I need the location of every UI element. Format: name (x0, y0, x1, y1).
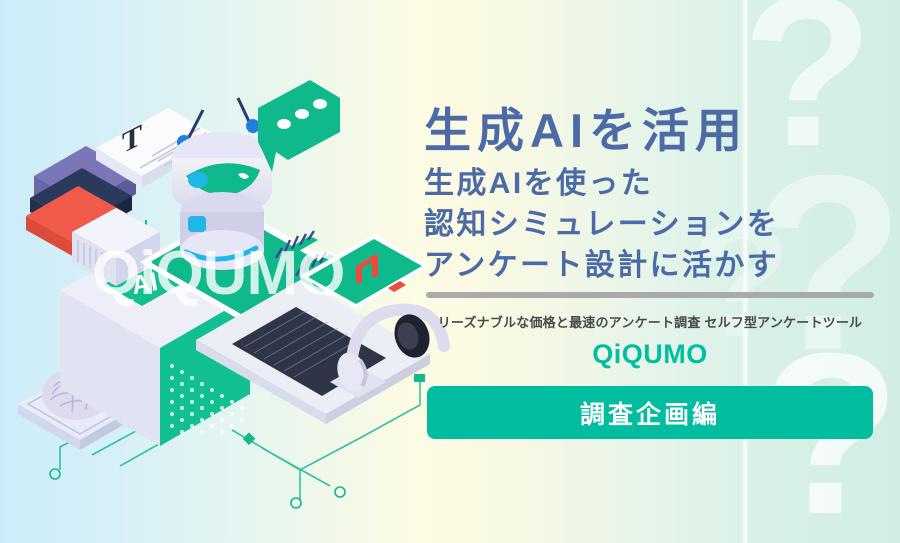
cta-button[interactable]: 調査企画編 (427, 386, 873, 439)
brand-logo: QiQUMO (424, 339, 876, 370)
subtitle-group: 生成AIを使った 認知シミュレーションを アンケート設計に活かす (424, 163, 876, 286)
subtitle-line-1: 生成AIを使った (424, 163, 876, 204)
tagline: リーズナブルな価格と最速のアンケート調査 セルフ型アンケートツール (424, 312, 876, 331)
content-block: 生成AIを活用 生成AIを使った 認知シミュレーションを アンケート設計に活かす… (424, 0, 876, 543)
hero-illustration: AI (0, 0, 470, 543)
subtitle-line-3: アンケート設計に活かす (424, 245, 876, 286)
subtitle-line-2: 認知シミュレーションを (424, 204, 876, 245)
qiqumo-watermark: QiQUMO (92, 238, 344, 309)
divider (426, 292, 874, 298)
page-title: 生成AIを活用 (424, 92, 876, 161)
promo-banner: ? ? ? ? (0, 0, 900, 543)
speech-bubble-icon (258, 80, 340, 172)
